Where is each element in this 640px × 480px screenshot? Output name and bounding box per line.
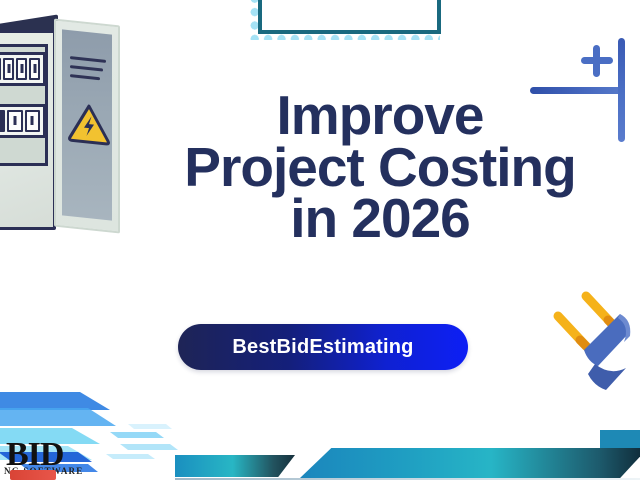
poster-canvas: Improve Project Costing in 2026 BestBidE… bbox=[0, 0, 640, 480]
electrical-plug-illustration bbox=[540, 290, 640, 400]
brand-badge-label: BestBidEstimating bbox=[232, 336, 413, 359]
breaker-switch bbox=[7, 110, 22, 132]
headline-line-2: Project Costing bbox=[120, 142, 640, 194]
headline-line-3: in 2026 bbox=[120, 193, 640, 245]
teal-rectangle-outline bbox=[258, 0, 441, 34]
breaker-switch bbox=[25, 110, 40, 132]
breaker-switch bbox=[16, 58, 27, 80]
brand-badge-button[interactable]: BestBidEstimating bbox=[178, 324, 468, 370]
breaker-row-top bbox=[0, 52, 46, 86]
plus-icon-stem bbox=[593, 45, 600, 77]
battery-plus-circuit-icon bbox=[560, 38, 640, 148]
breaker-switch bbox=[3, 58, 14, 80]
circuit-vertical-plate bbox=[618, 38, 625, 142]
accent-sliver bbox=[10, 470, 56, 480]
breaker-switch bbox=[0, 110, 5, 132]
high-voltage-warning-triangle bbox=[68, 102, 108, 144]
breaker-row-bottom bbox=[0, 104, 46, 138]
bottom-bar-left bbox=[175, 455, 295, 477]
breaker-switch bbox=[0, 58, 1, 80]
bottom-bar-right bbox=[300, 448, 640, 478]
breaker-switch bbox=[29, 58, 40, 80]
circuit-horizontal-wire bbox=[530, 87, 622, 94]
panel-door-label-lines bbox=[70, 56, 106, 87]
